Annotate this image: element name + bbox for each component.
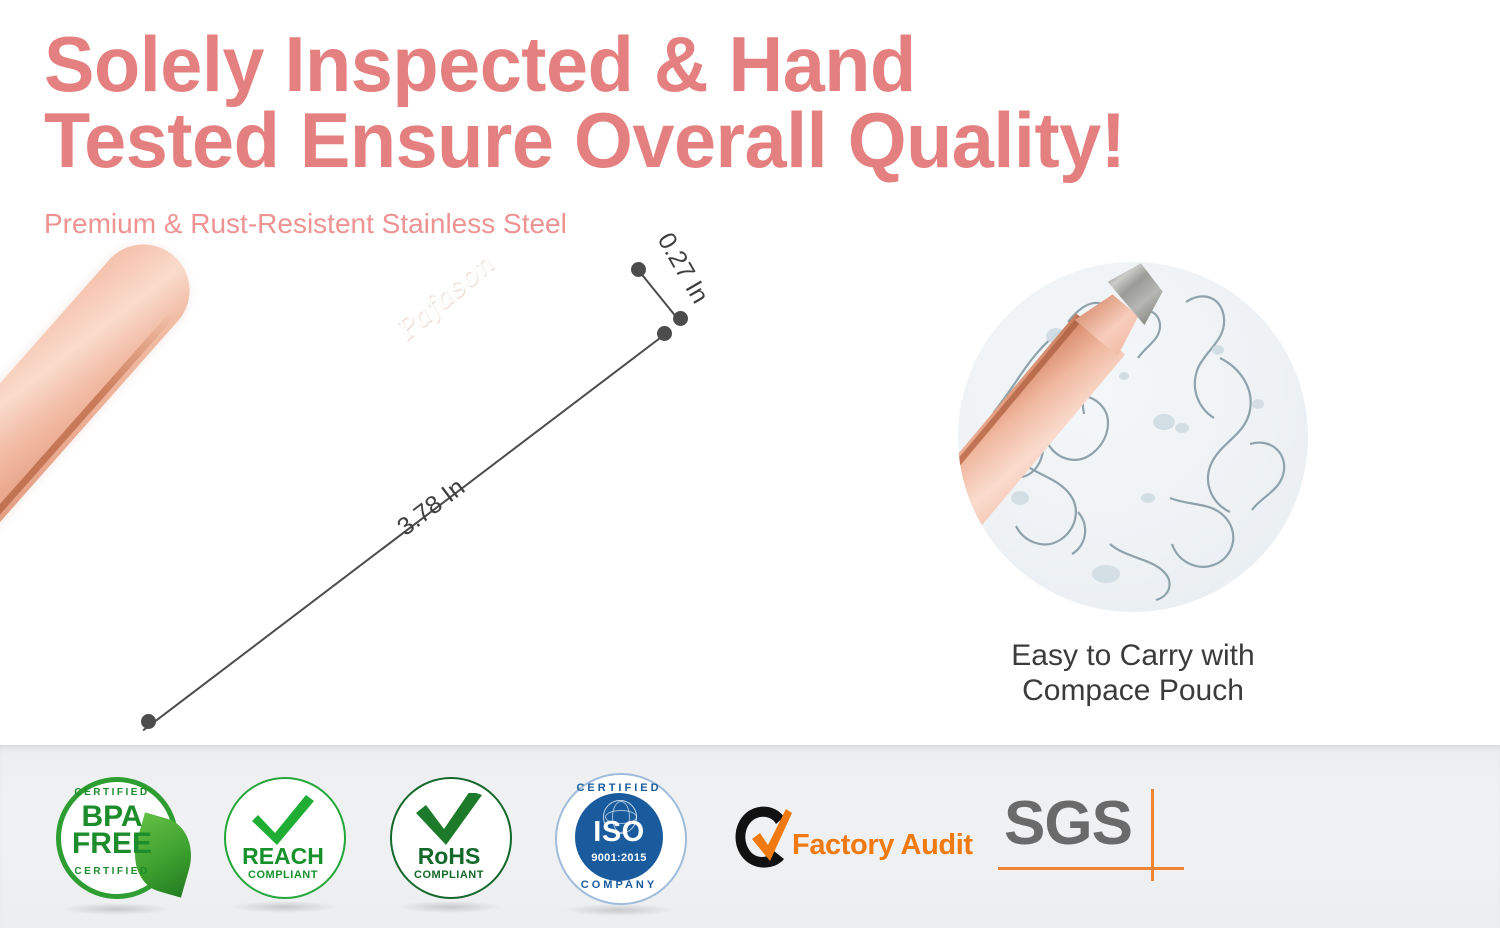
length-dim-dot-end <box>141 714 156 729</box>
bpa-main-label: BPA FREE <box>52 803 172 858</box>
bpa-arc-bottom-label: CERTIFIED <box>52 866 172 877</box>
badge-shadow <box>398 901 502 913</box>
product-illustration <box>80 248 660 698</box>
badge-shadow <box>232 901 336 913</box>
factory-audit-label: Factory Audit <box>792 829 973 862</box>
badge-shadow <box>564 904 673 916</box>
sgs-label: SGS <box>1004 793 1132 855</box>
main-stage: Solely Inspected & Hand Tested Ensure Ov… <box>0 0 1500 745</box>
check-icon <box>414 793 484 847</box>
rohs-sub-label: COMPLIANT <box>388 869 510 881</box>
badge-shadow <box>62 903 170 915</box>
reach-label: REACH <box>222 843 344 870</box>
check-icon <box>248 793 318 847</box>
iso-arc-top-label: CERTIFIED <box>554 782 684 794</box>
water-splash-feature <box>958 262 1308 612</box>
rohs-label: RoHS <box>388 843 510 870</box>
badge-sgs: SGS <box>998 789 1198 885</box>
certification-badge-list: CERTIFIED BPA FREE CERTIFIED REACH COMPL… <box>52 745 1198 928</box>
tweezer-graphic <box>0 226 208 639</box>
sgs-horizontal-accent <box>998 867 1184 870</box>
feature-caption: Easy to Carry with Compace Pouch <box>958 638 1308 709</box>
badge-bpa-free: CERTIFIED BPA FREE CERTIFIED <box>52 773 180 901</box>
badge-factory-audit: Factory Audit <box>726 797 956 877</box>
badge-iso: CERTIFIED ISO 9001:2015 COMPANY <box>554 772 684 902</box>
badge-reach: REACH COMPLIANT <box>222 775 346 899</box>
bpa-arc-top-label: CERTIFIED <box>52 787 172 798</box>
audit-check-icon <box>726 801 800 875</box>
width-dim-dot-end <box>673 311 688 326</box>
iso-label: ISO <box>575 816 663 849</box>
page-subtitle: Premium & Rust-Resistent Stainless Steel <box>44 208 567 240</box>
product-infographic: Solely Inspected & Hand Tested Ensure Ov… <box>0 0 1500 928</box>
iso-arc-bottom-label: COMPANY <box>554 879 684 891</box>
certification-bar: CERTIFIED BPA FREE CERTIFIED REACH COMPL… <box>0 745 1500 928</box>
page-title: Solely Inspected & Hand Tested Ensure Ov… <box>44 26 1421 179</box>
reach-sub-label: COMPLIANT <box>222 869 344 881</box>
badge-rohs: RoHS COMPLIANT <box>388 775 512 899</box>
tweezer-body <box>0 226 208 602</box>
iso-standard-label: 9001:2015 <box>575 852 663 864</box>
